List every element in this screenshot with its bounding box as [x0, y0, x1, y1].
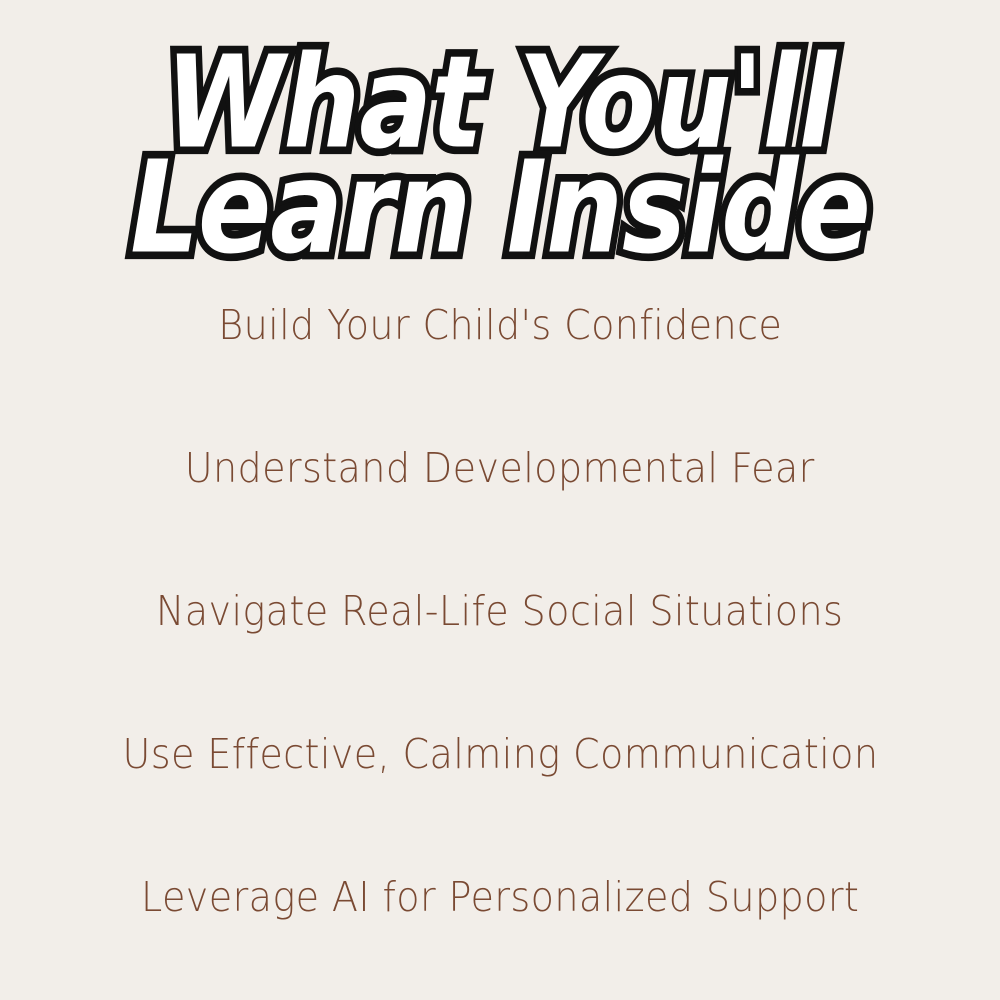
- learn-list: Build Your Child's Confidence Understand…: [0, 0, 1000, 1000]
- list-item-label: Build Your Child's Confidence: [218, 305, 782, 346]
- list-item: Understand Developmental Fear: [0, 448, 1000, 489]
- list-item-label: Leverage AI for Personalized Support: [141, 877, 859, 918]
- list-item-label: Use Effective, Calming Communication: [122, 734, 878, 775]
- list-item: Use Effective, Calming Communication: [0, 734, 1000, 775]
- list-item: Build Your Child's Confidence: [0, 305, 1000, 346]
- list-item-label: Understand Developmental Fear: [185, 448, 815, 489]
- list-item-label: Navigate Real-Life Social Situations: [156, 591, 843, 632]
- list-item: Navigate Real-Life Social Situations: [0, 591, 1000, 632]
- list-item: Leverage AI for Personalized Support: [0, 877, 1000, 918]
- poster-canvas: What You'll Learn Inside Build Your Chil…: [0, 0, 1000, 1000]
